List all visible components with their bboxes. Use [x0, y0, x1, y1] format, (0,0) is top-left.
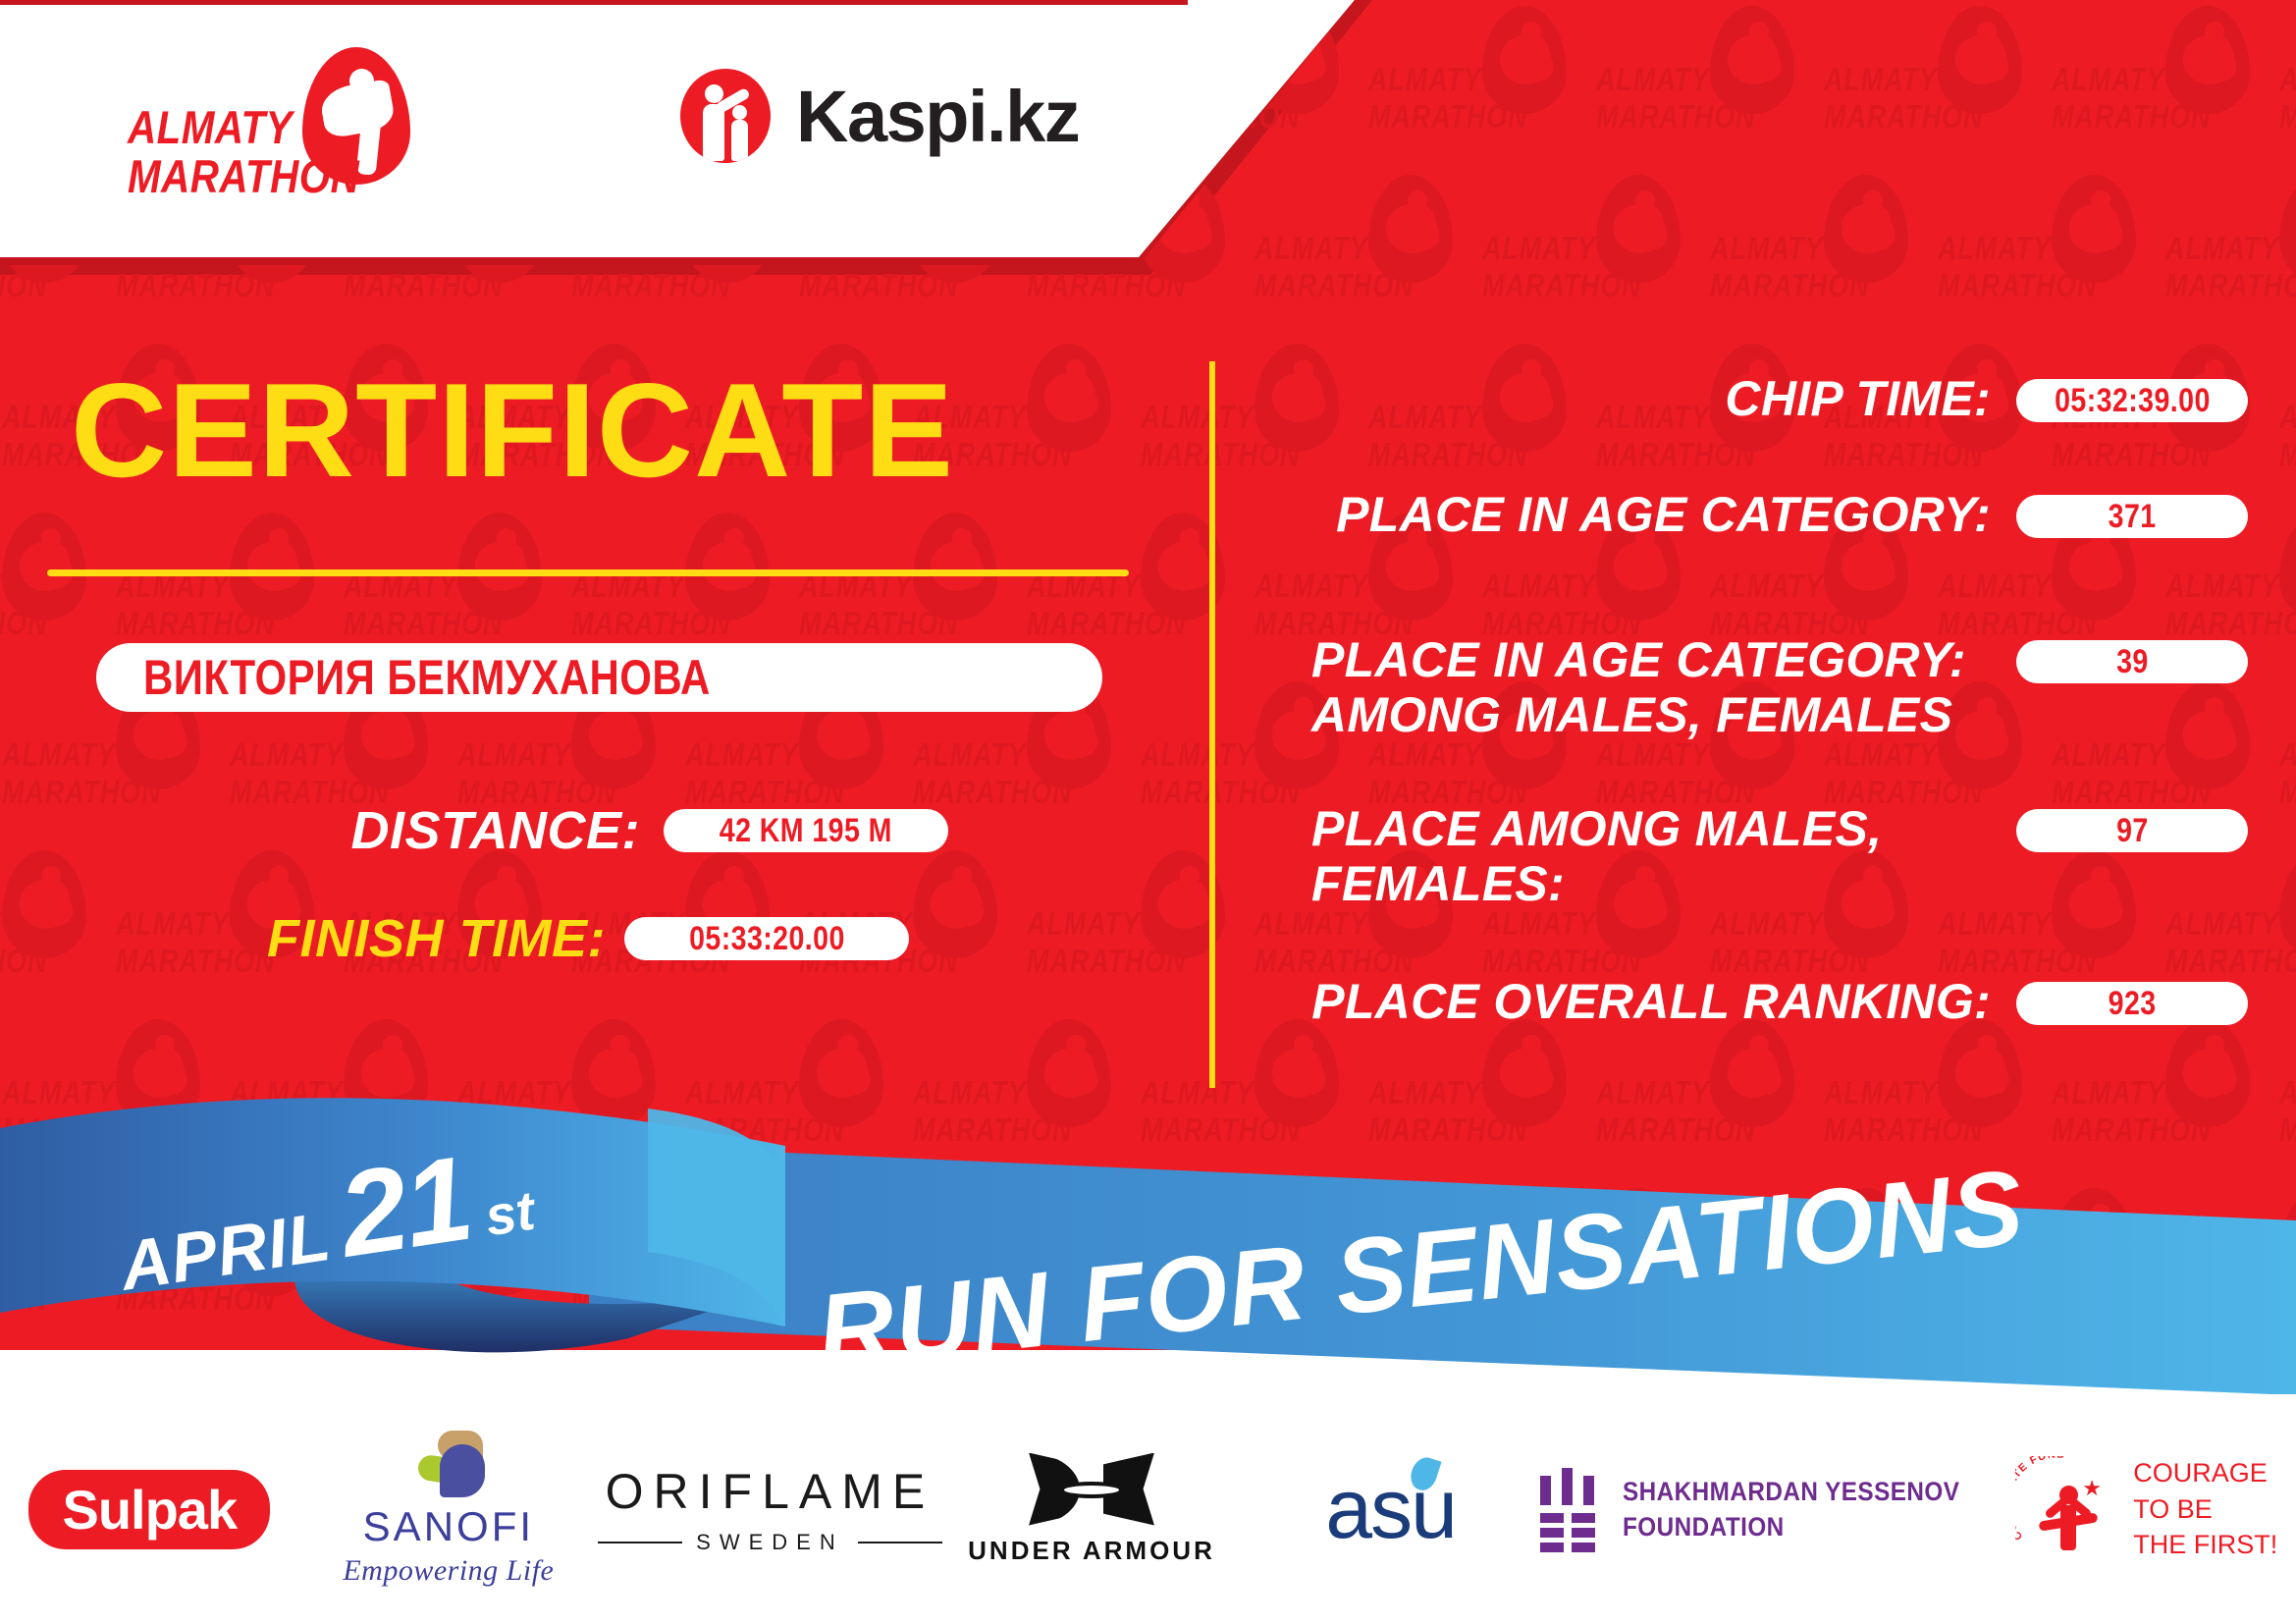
sulpak-wordmark: Sulpak — [62, 1479, 237, 1541]
place-age-category-gender-value-pill: 39 — [2016, 640, 2248, 683]
courage-line1: COURAGE — [2133, 1455, 2277, 1490]
finish-time-row: FINISH TIME: 05:33:20.00 — [267, 908, 909, 969]
almaty-logo-line1: ALMATY — [128, 100, 293, 154]
courage-line2: TO BE — [2133, 1491, 2277, 1527]
yessenov-wordmark: SHAKHMARDAN YESSENOV FOUNDATION — [1623, 1474, 1959, 1545]
kaspi-wordmark: Kaspi.kz — [796, 75, 1079, 158]
yessenov-line1: SHAKHMARDAN YESSENOV — [1623, 1474, 1959, 1509]
place-overall-value-pill: 923 — [2016, 982, 2248, 1025]
sponsor-bar: Sulpak SANOFI Empowering Life ORIFLAME S… — [0, 1394, 2296, 1624]
title-underline-rule — [47, 569, 1129, 576]
sulpak-logo: Sulpak — [28, 1470, 270, 1549]
sponsor-yessenov-foundation: SHAKHMARDAN YESSENOV FOUNDATION — [1540, 1431, 1998, 1588]
sponsor-courage-fund: CORPORATE FUND ★ COURAGE TO BE THE FIRST… — [1997, 1431, 2296, 1588]
watermark-runner-drop-icon — [571, 6, 656, 114]
place-age-category-value: 371 — [2109, 498, 2157, 536]
distance-label: DISTANCE: — [267, 800, 640, 861]
athlete-name-field: ВИКТОРИЯ БЕКМУХАНОВА — [96, 643, 1102, 712]
place-among-gender-value: 97 — [2116, 812, 2149, 850]
place-overall-row: PLACE OVERALL RANKING: 923 — [1256, 974, 2248, 1053]
place-age-category-value-pill: 371 — [2016, 495, 2248, 538]
under-armour-mark-icon — [1029, 1453, 1154, 1526]
sponsor-sulpak: Sulpak — [0, 1431, 299, 1588]
place-age-category-gender-value: 39 — [2116, 643, 2149, 681]
page-title: CERTIFICATE — [71, 363, 954, 497]
watermark-line2: MARATHON — [457, 98, 616, 135]
kaspi-family-circle-icon — [680, 69, 771, 163]
under-armour-wordmark: UNDER ARMOUR — [968, 1536, 1215, 1566]
sanofi-tagline: Empowering Life — [343, 1554, 554, 1588]
top-hairline-accent — [0, 0, 1188, 5]
sponsor-oriflame: ORIFLAME SWEDEN — [598, 1431, 942, 1588]
place-age-category-label: PLACE IN AGE CATEGORY: — [1256, 487, 2016, 542]
distance-value: 42 KM 195 M — [720, 812, 892, 850]
watermark-line1: ALMATY — [2, 61, 116, 98]
yessenov-foundation-logo: SHAKHMARDAN YESSENOV FOUNDATION — [1540, 1468, 1998, 1550]
courage-to-be-the-first-logo: CORPORATE FUND ★ COURAGE TO BE THE FIRST… — [2015, 1455, 2277, 1562]
watermark-line1: ALMATY — [457, 61, 571, 98]
event-day: 21 — [331, 1129, 479, 1284]
chip-time-row: CHIP TIME: 05:32:39.00 — [1256, 371, 2248, 487]
sponsor-sanofi: SANOFI Empowering Life — [299, 1431, 599, 1588]
almaty-logo-line2: MARATHON — [128, 149, 359, 203]
sponsor-asu: asu — [1241, 1431, 1540, 1588]
sanofi-logo: SANOFI Empowering Life — [343, 1431, 554, 1588]
place-age-category-row: PLACE IN AGE CATEGORY: 371 — [1256, 487, 2248, 632]
sponsor-under-armour: UNDER ARMOUR — [942, 1431, 1242, 1588]
under-armour-logo: UNDER ARMOUR — [968, 1453, 1215, 1566]
event-day-suffix: st — [481, 1178, 539, 1249]
sanofi-mark-icon — [410, 1431, 487, 1497]
chip-time-value: 05:32:39.00 — [2055, 382, 2211, 420]
almaty-marathon-logo: ALMATY MARATHON — [128, 47, 452, 175]
finish-time-value: 05:33:20.00 — [689, 920, 845, 958]
place-overall-value: 923 — [2109, 985, 2157, 1023]
kaspi-logo: Kaspi.kz — [680, 67, 1073, 165]
athlete-name-value: ВИКТОРИЯ БЕКМУХАНОВА — [143, 649, 711, 706]
results-panel: CHIP TIME: 05:32:39.00 PLACE IN AGE CATE… — [1256, 371, 2248, 1053]
distance-value-pill: 42 KM 195 M — [664, 809, 948, 852]
place-among-gender-label: PLACE AMONG MALES, FEMALES: — [1256, 801, 2016, 911]
sanofi-wordmark: SANOFI — [343, 1503, 554, 1550]
courage-wordmark: COURAGE TO BE THE FIRST! — [2133, 1455, 2277, 1562]
asu-logo: asu — [1325, 1461, 1456, 1558]
chip-time-label: CHIP TIME: — [1256, 371, 2016, 426]
watermark-tile: ALMATYMARATHON — [455, 0, 683, 169]
yessenov-bars-icon — [1540, 1468, 1601, 1550]
oriflame-wordmark: ORIFLAME — [598, 1463, 942, 1520]
chip-time-value-pill: 05:32:39.00 — [2016, 379, 2248, 422]
place-age-category-gender-row: PLACE IN AGE CATEGORY: AMONG MALES, FEMA… — [1256, 632, 2248, 801]
event-month: APRIL — [116, 1197, 336, 1306]
watermark-line1: ALMATY — [1141, 61, 1255, 98]
place-age-category-gender-label: PLACE IN AGE CATEGORY: AMONG MALES, FEMA… — [1256, 632, 2016, 742]
yessenov-line2: FOUNDATION — [1623, 1509, 1959, 1544]
oriflame-rule-left — [598, 1542, 682, 1543]
place-among-gender-row: PLACE AMONG MALES, FEMALES: 97 — [1256, 801, 2248, 974]
column-divider — [1209, 361, 1215, 1088]
certificate-page: ALMATYMARATHONALMATYMARATHONALMATYMARATH… — [0, 0, 2296, 1624]
place-among-gender-value-pill: 97 — [2016, 809, 2248, 852]
oriflame-tagline: SWEDEN — [696, 1530, 844, 1555]
distance-row: DISTANCE: 42 KM 195 M — [267, 800, 948, 861]
finish-time-value-pill: 05:33:20.00 — [624, 917, 909, 960]
courage-mark-icon: CORPORATE FUND ★ — [2015, 1456, 2121, 1562]
oriflame-rule-right — [858, 1542, 942, 1543]
courage-line3: THE FIRST! — [2133, 1527, 2277, 1562]
finish-time-label: FINISH TIME: — [267, 908, 601, 969]
place-overall-label: PLACE OVERALL RANKING: — [1256, 974, 2016, 1029]
oriflame-logo: ORIFLAME SWEDEN — [598, 1463, 942, 1555]
